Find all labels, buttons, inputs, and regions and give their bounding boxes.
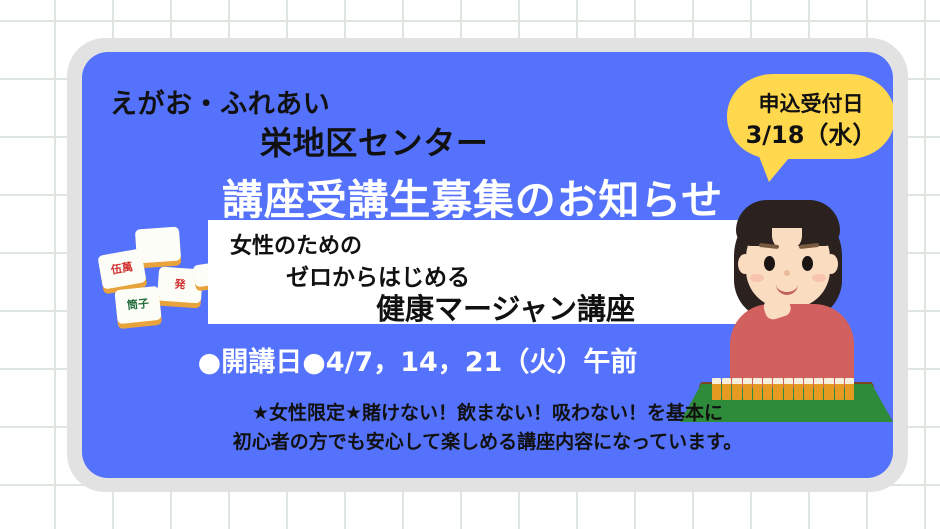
mahjong-table-tile — [732, 378, 741, 400]
nose — [784, 270, 790, 276]
course-title-line-1: 女性のための — [230, 228, 362, 260]
application-date-bubble: 申込受付日 3/18（水） — [727, 74, 893, 174]
organization-tagline: えがお・ふれあい — [110, 82, 330, 121]
mahjong-tile-pin: 筒子 — [114, 286, 161, 324]
mahjong-tile-five-man: 伍萬 — [97, 248, 146, 289]
mahjong-table-tile — [784, 378, 793, 400]
course-schedule: ●開講日●4/7，14，21（火）午前 — [82, 340, 893, 379]
center-name: 栄地区センター — [260, 118, 488, 164]
mahjong-table-tile — [712, 378, 721, 400]
mahjong-table-tile — [773, 378, 782, 400]
cheek-left — [750, 274, 764, 282]
mahjong-table-tile — [814, 378, 823, 400]
bubble-body: 申込受付日 3/18（水） — [727, 74, 893, 159]
poster-page: えがお・ふれあい 栄地区センター 講座受講生募集のお知らせ 申込受付日 3/18… — [0, 0, 940, 529]
mahjong-table-tile — [845, 378, 854, 400]
mahjong-table-tile — [804, 378, 813, 400]
blue-poster-panel: えがお・ふれあい 栄地区センター 講座受講生募集のお知らせ 申込受付日 3/18… — [82, 52, 893, 478]
mahjong-table-tile — [824, 378, 833, 400]
mahjong-tile-face: 筒子 — [114, 286, 161, 324]
mahjong-tile-row — [712, 378, 854, 400]
course-note-line-2: 初心者の方でも安心して楽しめる講座内容になっています。 — [82, 427, 893, 454]
course-title-box: 女性のための ゼロからはじめる 健康マージャン講座 — [208, 220, 748, 324]
eye-right — [802, 256, 813, 271]
mahjong-table-tile — [753, 378, 762, 400]
course-note-line-1: ★女性限定★賭けない！飲まない！吸わない！を基本に — [82, 398, 893, 425]
bubble-label: 申込受付日 — [727, 88, 893, 118]
page-title: 講座受講生募集のお知らせ — [222, 166, 723, 226]
mahjong-tile-face: 伍萬 — [97, 248, 146, 289]
mahjong-table-tile — [722, 378, 731, 400]
course-title-line-3: 健康マージャン講座 — [376, 286, 635, 328]
cheek-right — [812, 274, 826, 282]
mahjong-table-tile — [794, 378, 803, 400]
mahjong-table-tile — [743, 378, 752, 400]
eye-left — [764, 256, 775, 271]
mahjong-table-tile — [763, 378, 772, 400]
mahjong-table-tile — [835, 378, 844, 400]
bubble-date: 3/18（水） — [727, 115, 893, 150]
